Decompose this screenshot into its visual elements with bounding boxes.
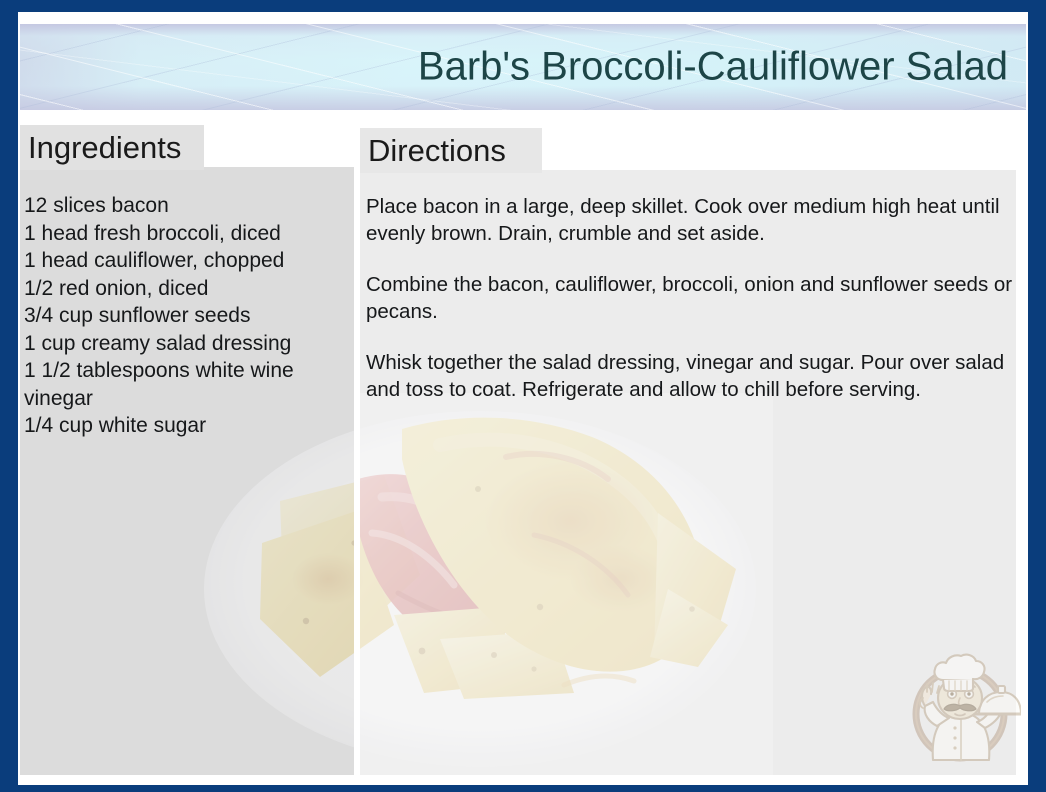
ingredients-list: 12 slices bacon 1 head fresh broccoli, d… <box>24 192 342 440</box>
direction-step: Whisk together the salad dressing, vineg… <box>366 349 1014 403</box>
list-item: 12 slices bacon <box>24 192 342 220</box>
list-item: 1/4 cup white sugar <box>24 412 342 440</box>
page-title: Barb's Broccoli-Cauliflower Salad <box>418 45 1008 90</box>
directions-body: Place bacon in a large, deep skillet. Co… <box>366 193 1014 427</box>
directions-heading: Directions <box>368 135 506 166</box>
ingredients-tab: Ingredients <box>20 125 204 170</box>
recipe-slide: Barb's Broccoli-Cauliflower Salad <box>0 0 1046 792</box>
column-divider <box>354 167 360 775</box>
list-item: 3/4 cup sunflower seeds <box>24 302 342 330</box>
direction-step: Place bacon in a large, deep skillet. Co… <box>366 193 1014 247</box>
title-banner: Barb's Broccoli-Cauliflower Salad <box>20 24 1026 110</box>
chef-logo-icon <box>903 648 1021 770</box>
list-item: 1 cup creamy salad dressing <box>24 330 342 358</box>
list-item: 1 head fresh broccoli, diced <box>24 220 342 248</box>
directions-tab: Directions <box>360 128 542 173</box>
list-item: 1/2 red onion, diced <box>24 275 342 303</box>
direction-step: Combine the bacon, cauliflower, broccoli… <box>366 271 1014 325</box>
list-item: 1 1/2 tablespoons white wine <box>24 357 342 385</box>
list-item: 1 head cauliflower, chopped <box>24 247 342 275</box>
ingredients-heading: Ingredients <box>28 132 181 163</box>
list-item: vinegar <box>24 385 342 413</box>
